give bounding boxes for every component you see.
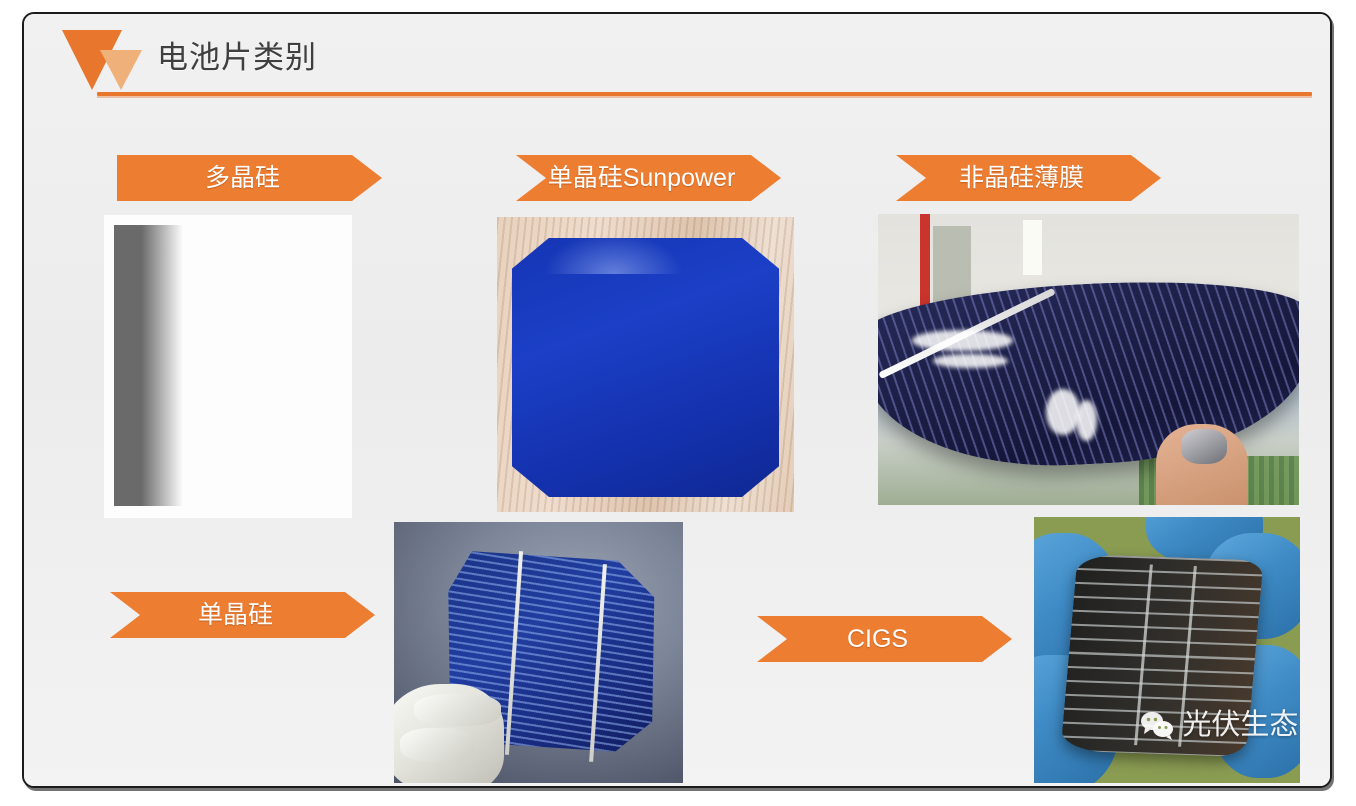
polysilicon-cell-surface [114,225,344,506]
cigs-cell-surface [1060,554,1263,757]
cigs-photo-inner: 光伏生态 [1034,517,1300,783]
photo-sunpower-mono-cell [497,217,794,512]
slide-header: 电池片类别 [24,14,1330,106]
sunpower-photo-inner [497,217,794,512]
sunpower-octagon-cell [512,238,779,498]
banner-monocrystalline[interactable]: 单晶硅 [110,592,375,638]
banner-polysilicon-label: 多晶硅 [117,166,382,191]
glove-finger-1 [414,694,501,725]
banner-amorphous-thin-film[interactable]: 非晶硅薄膜 [896,155,1161,201]
panel-glare-3 [1046,389,1080,436]
amorphous-photo-inner [878,214,1299,505]
slide-canvas: 电池片类别 多晶硅 单晶硅Sunpower 非晶硅薄膜 [24,14,1330,786]
mono-photo-inner [394,522,683,783]
double-triangle-logo-icon [60,28,144,94]
banner-monocrystalline-label: 单晶硅 [110,603,375,628]
cigs-seam-2 [1178,566,1197,747]
slide-frame: 电池片类别 多晶硅 单晶硅Sunpower 非晶硅薄膜 [22,12,1332,788]
wristwatch [1181,429,1227,464]
photo-mono-cell-in-hand [394,522,683,783]
banner-amorphous-thin-film-label: 非晶硅薄膜 [896,166,1161,191]
photo-cigs-flexible-cell: 光伏生态 [1034,517,1300,783]
banner-cigs-label: CIGS [757,627,1012,652]
page-title: 电池片类别 [157,36,317,80]
banner-mono-sunpower-label: 单晶硅Sunpower [516,166,781,191]
photo-polysilicon-cell [104,215,352,518]
glove-finger-2 [400,728,475,762]
banner-cigs[interactable]: CIGS [757,616,1012,662]
title-underline-shadow [97,96,1312,98]
panel-glare-4 [1076,400,1097,441]
panel-glare-1 [912,330,1013,350]
cigs-seam-1 [1133,564,1152,745]
banner-polysilicon[interactable]: 多晶硅 [117,155,382,201]
room-window [1023,220,1042,275]
banner-mono-sunpower[interactable]: 单晶硅Sunpower [516,155,781,201]
photo-amorphous-thin-film [878,214,1299,505]
